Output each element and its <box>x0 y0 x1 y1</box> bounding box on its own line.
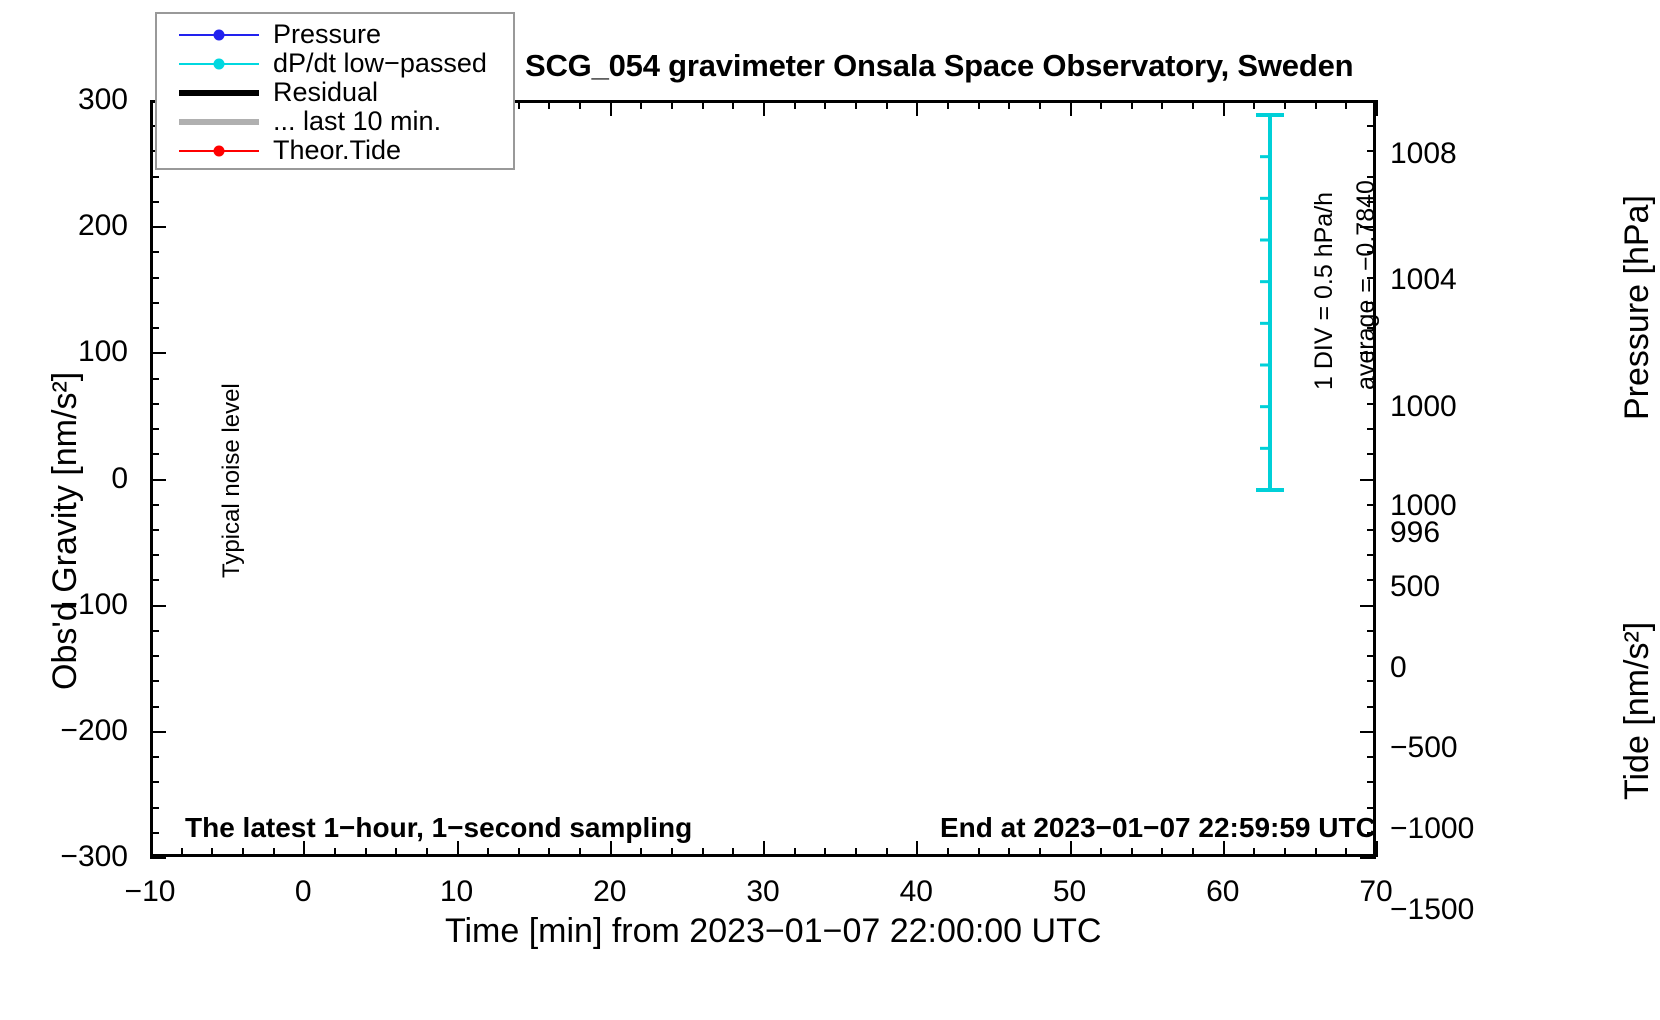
x-top-tick <box>1376 100 1378 116</box>
x-minor-tick <box>334 848 336 857</box>
x-top-tick <box>1345 100 1347 109</box>
x-top-tick <box>732 100 734 109</box>
y-right-minor-tick <box>1367 150 1376 152</box>
y-left-major-tick <box>150 479 166 481</box>
y-right-minor-tick <box>1367 630 1376 632</box>
y-left-minor-tick <box>150 176 159 178</box>
x-minor-tick <box>487 848 489 857</box>
y-left-major-tick <box>150 226 166 228</box>
x-top-tick <box>1039 100 1041 109</box>
x-tick-label: −10 <box>125 875 176 909</box>
y-left-minor-tick <box>150 579 159 581</box>
y-left-minor-tick <box>150 378 159 380</box>
y-right-top-tick-label: 1008 <box>1390 137 1457 171</box>
x-axis-title: Time [min] from 2023−01−07 22:00:00 UTC <box>445 912 1101 951</box>
x-top-tick <box>794 100 796 109</box>
y-right-minor-tick <box>1367 655 1376 657</box>
y-left-minor-tick <box>150 277 159 279</box>
x-top-tick <box>150 100 152 116</box>
y-right-minor-tick <box>1367 554 1376 556</box>
x-top-tick <box>1223 100 1225 116</box>
x-minor-tick <box>1345 848 1347 857</box>
legend-label: Pressure <box>273 21 381 48</box>
x-minor-tick <box>518 848 520 857</box>
y-left-tick-label: 300 <box>0 83 128 117</box>
x-top-tick <box>1008 100 1010 109</box>
y-left-minor-tick <box>150 251 159 253</box>
x-top-tick <box>640 100 642 109</box>
x-top-tick <box>610 100 612 116</box>
y-left-minor-tick <box>150 781 159 783</box>
y-left-tick-label: 200 <box>0 209 128 243</box>
y-left-minor-tick <box>150 756 159 758</box>
y-left-minor-tick <box>150 807 159 809</box>
legend-swatch-icon <box>179 83 259 103</box>
x-top-tick <box>1192 100 1194 109</box>
x-minor-tick <box>794 848 796 857</box>
legend-label: Residual <box>273 79 378 106</box>
y-right-minor-tick <box>1367 176 1376 178</box>
x-top-tick <box>1100 100 1102 109</box>
y-right-minor-tick <box>1367 706 1376 708</box>
x-tick-label: 0 <box>295 875 312 909</box>
legend: PressuredP/dt low−passedResidual... last… <box>155 12 515 170</box>
y-left-minor-tick <box>150 655 159 657</box>
x-minor-tick <box>579 848 581 857</box>
x-tick-label: 30 <box>746 875 779 909</box>
x-minor-tick <box>1100 848 1102 857</box>
x-top-tick <box>518 100 520 109</box>
y-left-minor-tick <box>150 630 159 632</box>
legend-item-3[interactable]: ... last 10 min. <box>157 107 513 136</box>
y-right-bottom-tick-label: −1000 <box>1390 812 1474 846</box>
x-minor-tick <box>702 848 704 857</box>
legend-item-2[interactable]: Residual <box>157 78 513 107</box>
y-left-tick-label: −300 <box>0 840 128 874</box>
y-right-top-axis-title: Pressure [hPa] <box>1618 195 1657 420</box>
x-tick-label: 20 <box>593 875 626 909</box>
legend-item-1[interactable]: dP/dt low−passed <box>157 49 513 78</box>
y-left-major-tick <box>150 605 166 607</box>
x-minor-tick <box>1284 848 1286 857</box>
x-minor-tick <box>273 848 275 857</box>
x-minor-tick <box>1161 848 1163 857</box>
x-tick-label: 50 <box>1053 875 1086 909</box>
dpdt-scale-bar <box>1245 105 1325 525</box>
y-left-minor-tick <box>150 428 159 430</box>
x-minor-tick <box>242 848 244 857</box>
y-right-minor-tick <box>1367 428 1376 430</box>
x-top-tick <box>671 100 673 109</box>
x-minor-tick <box>426 848 428 857</box>
x-minor-tick <box>1253 848 1255 857</box>
x-minor-tick <box>395 848 397 857</box>
x-minor-tick <box>824 848 826 857</box>
x-top-tick <box>1131 100 1133 109</box>
legend-swatch-icon <box>179 54 259 74</box>
y-left-minor-tick <box>150 680 159 682</box>
legend-swatch-icon <box>179 112 259 132</box>
x-top-tick <box>886 100 888 109</box>
y-right-bottom-tick-label: 1000 <box>1390 489 1457 523</box>
x-minor-tick <box>732 848 734 857</box>
y-right-minor-tick <box>1367 529 1376 531</box>
x-minor-tick <box>1008 848 1010 857</box>
x-top-tick <box>978 100 980 109</box>
typical-noise-level-label: Typical noise level <box>218 383 246 578</box>
y-right-top-tick-label: 1000 <box>1390 390 1457 424</box>
x-top-tick <box>702 100 704 109</box>
x-minor-tick <box>1131 848 1133 857</box>
x-top-tick <box>1161 100 1163 109</box>
x-minor-tick <box>1315 848 1317 857</box>
y-right-major-tick <box>1360 731 1376 733</box>
x-minor-tick <box>1039 848 1041 857</box>
y-left-tick-label: 100 <box>0 335 128 369</box>
y-left-minor-tick <box>150 403 159 405</box>
x-top-tick <box>579 100 581 109</box>
x-minor-tick <box>181 848 183 857</box>
y-right-minor-tick <box>1367 579 1376 581</box>
y-left-minor-tick <box>150 529 159 531</box>
x-minor-tick <box>365 848 367 857</box>
x-tick-label: 60 <box>1206 875 1239 909</box>
y-left-minor-tick <box>150 453 159 455</box>
legend-swatch-icon <box>179 141 259 161</box>
x-minor-tick <box>978 848 980 857</box>
y-left-minor-tick <box>150 327 159 329</box>
y-right-major-tick <box>1360 605 1376 607</box>
chart-root: SCG_054 gravimeter Onsala Space Observat… <box>0 0 1660 1020</box>
x-major-tick <box>916 841 918 857</box>
y-right-bottom-tick-label: 500 <box>1390 570 1440 604</box>
y-left-axis-title: Obs'd Gravity [nm/s²] <box>46 372 85 690</box>
x-tick-label: 40 <box>900 875 933 909</box>
y-right-minor-tick <box>1367 504 1376 506</box>
y-left-minor-tick <box>150 302 159 304</box>
x-minor-tick <box>947 848 949 857</box>
y-right-bottom-tick-label: 0 <box>1390 651 1407 685</box>
x-minor-tick <box>548 848 550 857</box>
y-right-major-tick <box>1360 479 1376 481</box>
average-label: average = −0.7840 <box>1352 180 1381 390</box>
y-right-minor-tick <box>1367 807 1376 809</box>
x-minor-tick <box>640 848 642 857</box>
y-left-tick-label: −200 <box>0 714 128 748</box>
y-left-minor-tick <box>150 706 159 708</box>
x-minor-tick <box>1192 848 1194 857</box>
y-right-bottom-tick-label: −500 <box>1390 731 1458 765</box>
y-right-bottom-tick-label: −1500 <box>1390 893 1474 927</box>
x-major-tick <box>763 841 765 857</box>
y-right-major-tick <box>1360 100 1376 102</box>
bottom-right-annotation: End at 2023−01−07 22:59:59 UTC <box>940 812 1376 844</box>
legend-label: dP/dt low−passed <box>273 50 487 77</box>
y-right-minor-tick <box>1367 403 1376 405</box>
legend-item-0[interactable]: Pressure <box>157 20 513 49</box>
y-left-minor-tick <box>150 504 159 506</box>
y-right-bottom-axis-title: Tide [nm/s²] <box>1618 622 1657 800</box>
y-left-major-tick <box>150 857 166 859</box>
x-minor-tick <box>886 848 888 857</box>
y-right-minor-tick <box>1367 125 1376 127</box>
y-right-top-tick-label: 1004 <box>1390 263 1457 297</box>
bottom-left-annotation: The latest 1−hour, 1−second sampling <box>185 812 692 844</box>
x-major-tick <box>1376 841 1378 857</box>
x-top-tick <box>763 100 765 116</box>
x-top-tick <box>824 100 826 109</box>
y-right-minor-tick <box>1367 453 1376 455</box>
y-left-minor-tick <box>150 832 159 834</box>
x-top-tick <box>947 100 949 109</box>
x-tick-label: 70 <box>1359 875 1392 909</box>
y-right-minor-tick <box>1367 781 1376 783</box>
y-left-minor-tick <box>150 554 159 556</box>
y-left-major-tick <box>150 731 166 733</box>
x-top-tick <box>855 100 857 109</box>
y-right-minor-tick <box>1367 680 1376 682</box>
y-left-minor-tick <box>150 201 159 203</box>
x-top-tick <box>916 100 918 116</box>
y-left-major-tick <box>150 352 166 354</box>
x-top-tick <box>548 100 550 109</box>
x-major-tick <box>150 841 152 857</box>
legend-item-4[interactable]: Theor.Tide <box>157 136 513 165</box>
y-right-minor-tick <box>1367 756 1376 758</box>
x-top-tick <box>1070 100 1072 116</box>
y-right-major-tick <box>1360 857 1376 859</box>
x-minor-tick <box>855 848 857 857</box>
x-minor-tick <box>671 848 673 857</box>
x-tick-label: 10 <box>440 875 473 909</box>
legend-label: Theor.Tide <box>273 137 401 164</box>
legend-swatch-icon <box>179 25 259 45</box>
x-minor-tick <box>211 848 213 857</box>
legend-label: ... last 10 min. <box>273 108 441 135</box>
